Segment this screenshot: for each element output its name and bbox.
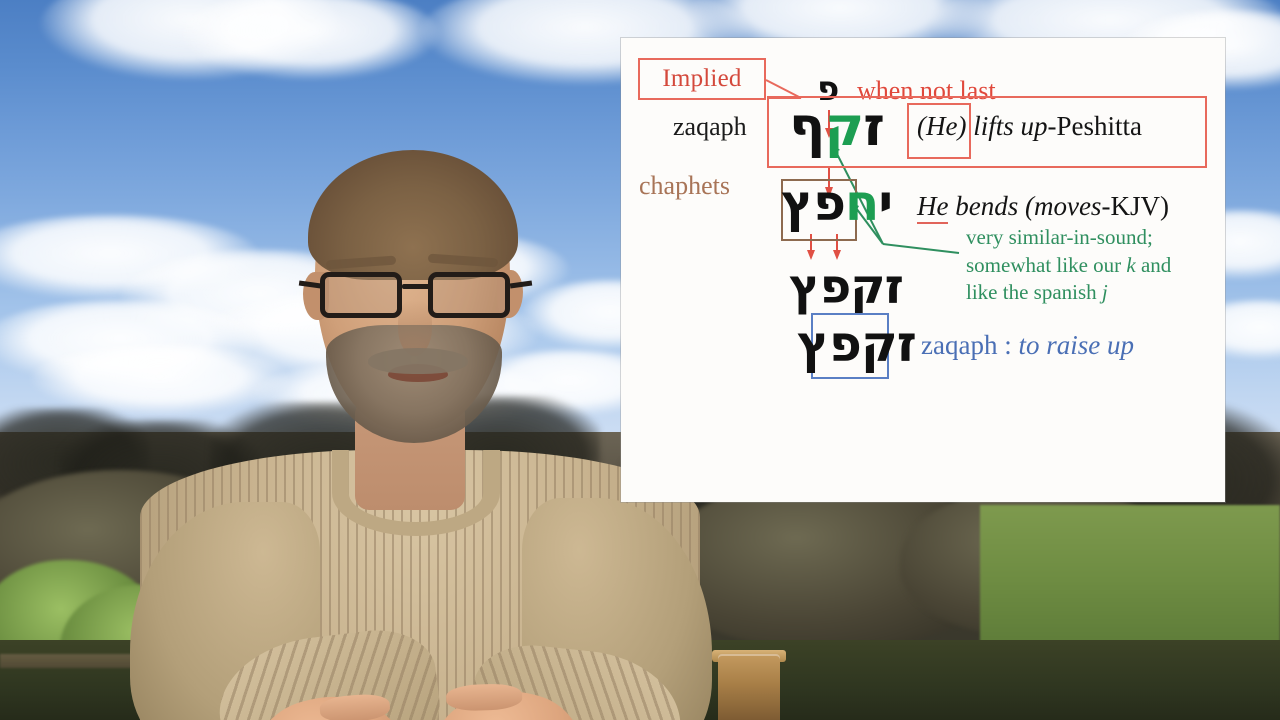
glasses-bridge xyxy=(402,284,430,289)
hebrew-letter-yod: י xyxy=(878,174,892,232)
green-note-line3: like the spanish j xyxy=(966,279,1171,307)
finger xyxy=(446,683,523,712)
green-note-line2-post: and xyxy=(1136,253,1172,277)
green-note-line2-pre: somewhat like our xyxy=(966,253,1126,277)
eyeglasses xyxy=(318,272,514,320)
finger xyxy=(319,693,391,720)
gloss-he-underlined: He xyxy=(917,191,948,224)
gloss-zaqaph-term: zaqaph : xyxy=(921,330,1018,360)
lens-left xyxy=(320,272,402,318)
gloss-kjv: -KJV) xyxy=(1101,191,1169,221)
hebrew-letter-tsadi: ץ xyxy=(781,174,813,232)
green-note-line2: somewhat like our k and xyxy=(966,252,1171,280)
screenshot-stage: Implied פ when not last zaqaph זקף (He) … xyxy=(0,0,1280,720)
hebrew-letter-pe: ף xyxy=(789,95,824,158)
hebrew-word-zaqaph-final: זקפץ xyxy=(797,319,916,369)
wooden-post xyxy=(718,654,780,720)
implied-label: Implied xyxy=(640,60,764,98)
green-sound-note: very similar-in-sound; somewhat like our… xyxy=(966,224,1171,307)
gloss-to-raise-up: to raise up xyxy=(1018,330,1134,360)
gloss-he: (He) xyxy=(917,111,966,141)
moustache xyxy=(368,348,468,374)
gloss-chaphets: He bends (moves-KJV) xyxy=(917,193,1169,220)
hebrew-letter-qoph-highlight: ק xyxy=(824,95,863,158)
gloss-zaqaph: (He) lifts up-Peshitta xyxy=(917,113,1142,140)
gloss-peshitta: -Peshitta xyxy=(1047,111,1142,141)
gloss-lifts-up: lifts up xyxy=(973,111,1047,141)
green-note-line3-pre: like the spanish xyxy=(966,280,1102,304)
gloss-bends: bends (moves xyxy=(955,191,1101,221)
lens-right xyxy=(428,272,510,318)
hebrew-letter-zayin: ז xyxy=(863,95,884,158)
v-neck-collar xyxy=(332,450,500,536)
green-note-line1: very similar-in-sound; xyxy=(966,224,1171,252)
row-label-chaphets: chaphets xyxy=(639,173,730,199)
green-note-letter-k: k xyxy=(1126,253,1135,277)
gloss-zaqaph-definition: zaqaph : to raise up xyxy=(921,332,1134,359)
hebrew-word-chaphets: יחפץ xyxy=(781,178,892,228)
hebrew-letter-pe2: פ xyxy=(813,174,845,232)
hebrew-word-zaqphets: זקפץ xyxy=(789,263,903,311)
speaker-figure xyxy=(140,150,700,720)
implied-box: Implied xyxy=(638,58,766,100)
green-note-letter-j: j xyxy=(1102,280,1108,304)
teaching-slide-overlay: Implied פ when not last zaqaph זקף (He) … xyxy=(621,38,1225,502)
hebrew-word-zaqaph: זקף xyxy=(789,100,884,154)
row-label-zaqaph: zaqaph xyxy=(673,114,747,140)
hebrew-letter-chet-highlight: ח xyxy=(845,174,878,232)
